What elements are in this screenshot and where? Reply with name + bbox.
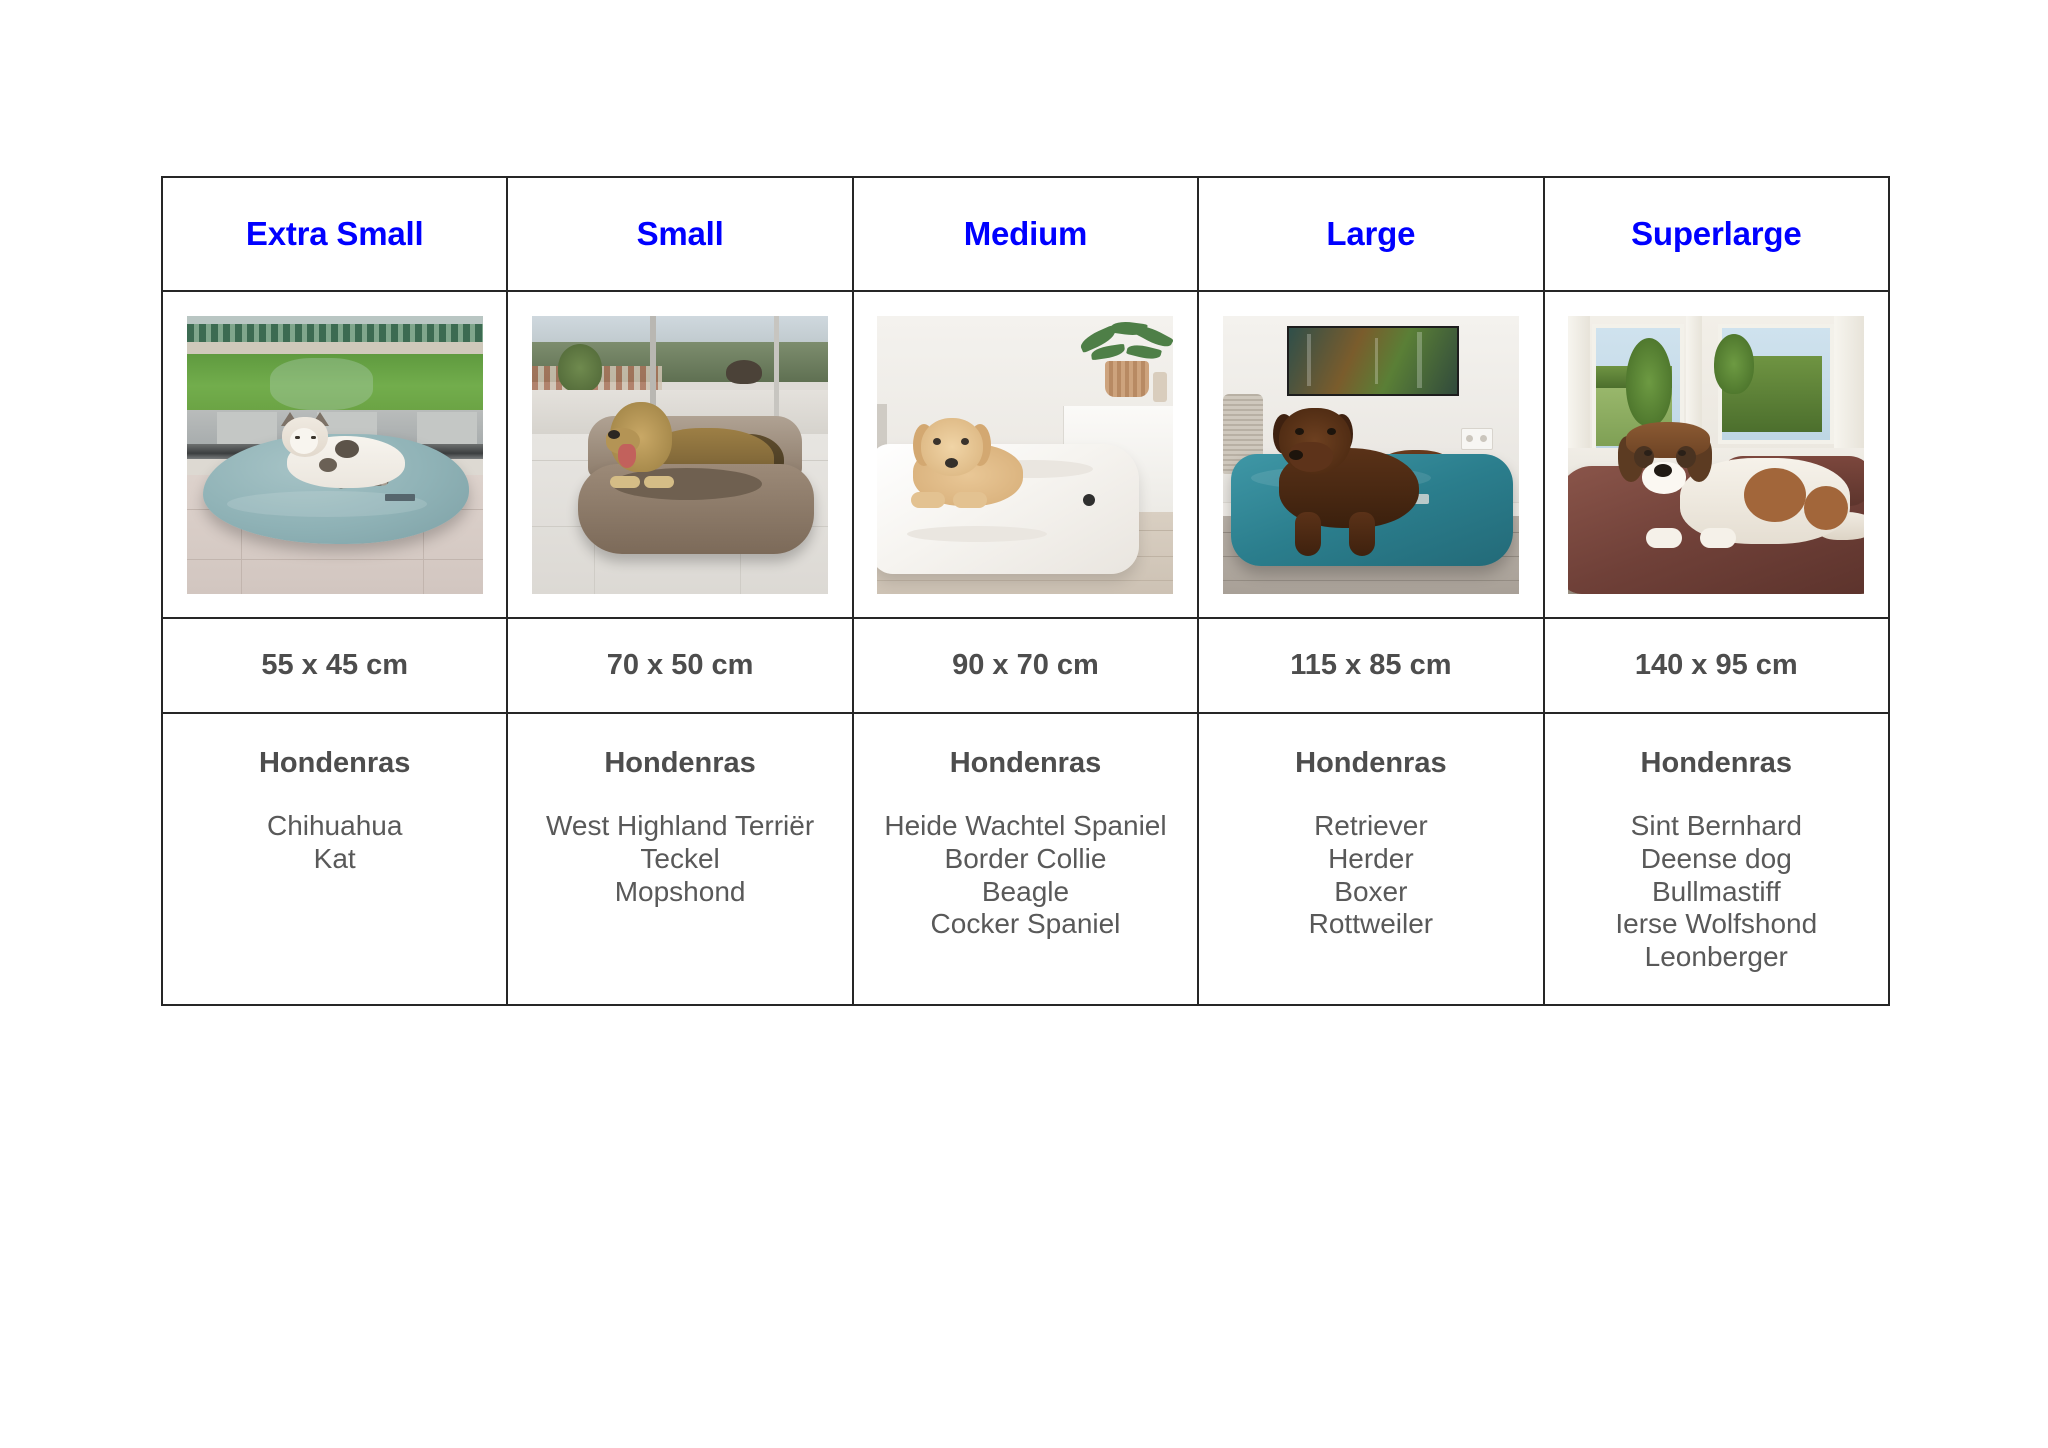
breed-item: Heide Wachtel Spaniel: [854, 810, 1197, 843]
header-cell-extra-small: Extra Small: [162, 177, 507, 291]
header-cell-small: Small: [507, 177, 852, 291]
breed-item: Rottweiler: [1199, 908, 1542, 941]
photo-cell-superlarge: [1544, 291, 1889, 618]
breed-item: West Highland Terriër: [508, 810, 851, 843]
breed-list-small: West Highland TerriërTeckelMopshond: [508, 810, 851, 908]
column-title-extra-small: Extra Small: [163, 215, 506, 253]
table-breed-row: Hondenras ChihuahuaKat Hondenras West Hi…: [162, 713, 1889, 1005]
breed-heading-large: Hondenras: [1199, 747, 1542, 780]
photo-wrapper-superlarge: [1545, 292, 1888, 617]
breed-item: Sint Bernhard: [1545, 810, 1888, 843]
photo-cell-extra-small: [162, 291, 507, 618]
breed-heading-small: Hondenras: [508, 747, 851, 780]
product-photo-extra-small: [187, 316, 483, 594]
dimension-text-small: 70 x 50 cm: [508, 649, 851, 682]
photo-wrapper-large: [1199, 292, 1542, 617]
breed-item: Cocker Spaniel: [854, 908, 1197, 941]
dimension-text-medium: 90 x 70 cm: [854, 649, 1197, 682]
dimension-cell-extra-small: 55 x 45 cm: [162, 618, 507, 713]
breed-list-medium: Heide Wachtel SpanielBorder CollieBeagle…: [854, 810, 1197, 941]
column-title-large: Large: [1199, 215, 1542, 253]
dimension-cell-small: 70 x 50 cm: [507, 618, 852, 713]
photo-wrapper-medium: [854, 292, 1197, 617]
breed-item: Beagle: [854, 876, 1197, 909]
breed-item: Kat: [163, 843, 506, 876]
photo-cell-large: [1198, 291, 1543, 618]
breed-heading-superlarge: Hondenras: [1545, 747, 1888, 780]
column-title-small: Small: [508, 215, 851, 253]
dimension-text-large: 115 x 85 cm: [1199, 649, 1542, 682]
header-cell-large: Large: [1198, 177, 1543, 291]
breed-cell-extra-small: Hondenras ChihuahuaKat: [162, 713, 507, 1005]
product-photo-small: [532, 316, 828, 594]
breed-item: Boxer: [1199, 876, 1542, 909]
dimension-text-extra-small: 55 x 45 cm: [163, 649, 506, 682]
breed-item: Retriever: [1199, 810, 1542, 843]
dimension-cell-medium: 90 x 70 cm: [853, 618, 1198, 713]
breed-item: Herder: [1199, 843, 1542, 876]
table-photo-row: [162, 291, 1889, 618]
breed-item: Leonberger: [1545, 941, 1888, 974]
product-photo-medium: [877, 316, 1173, 594]
document-page: Extra Small Small Medium Large Superlarg…: [0, 0, 2048, 1448]
breed-list-extra-small: ChihuahuaKat: [163, 810, 506, 876]
dog-bed-size-table: Extra Small Small Medium Large Superlarg…: [161, 176, 1890, 1006]
breed-item: Bullmastiff: [1545, 876, 1888, 909]
breed-item: Deense dog: [1545, 843, 1888, 876]
product-photo-large: [1223, 316, 1519, 594]
dimension-cell-large: 115 x 85 cm: [1198, 618, 1543, 713]
breed-item: Teckel: [508, 843, 851, 876]
dimension-text-superlarge: 140 x 95 cm: [1545, 649, 1888, 682]
breed-cell-medium: Hondenras Heide Wachtel SpanielBorder Co…: [853, 713, 1198, 1005]
breed-item: Border Collie: [854, 843, 1197, 876]
breed-list-large: RetrieverHerderBoxerRottweiler: [1199, 810, 1542, 941]
photo-cell-medium: [853, 291, 1198, 618]
breed-heading-medium: Hondenras: [854, 747, 1197, 780]
breed-item: Mopshond: [508, 876, 851, 909]
photo-wrapper-small: [508, 292, 851, 617]
breed-cell-large: Hondenras RetrieverHerderBoxerRottweiler: [1198, 713, 1543, 1005]
column-title-medium: Medium: [854, 215, 1197, 253]
breed-cell-small: Hondenras West Highland TerriërTeckelMop…: [507, 713, 852, 1005]
breed-list-superlarge: Sint BernhardDeense dogBullmastiffIerse …: [1545, 810, 1888, 974]
dimension-cell-superlarge: 140 x 95 cm: [1544, 618, 1889, 713]
product-photo-superlarge: [1568, 316, 1864, 594]
breed-heading-extra-small: Hondenras: [163, 747, 506, 780]
header-cell-medium: Medium: [853, 177, 1198, 291]
breed-item: Ierse Wolfshond: [1545, 908, 1888, 941]
breed-item: Chihuahua: [163, 810, 506, 843]
table-dimension-row: 55 x 45 cm 70 x 50 cm 90 x 70 cm 115 x 8…: [162, 618, 1889, 713]
breed-cell-superlarge: Hondenras Sint BernhardDeense dogBullmas…: [1544, 713, 1889, 1005]
photo-wrapper-extra-small: [163, 292, 506, 617]
column-title-superlarge: Superlarge: [1545, 215, 1888, 253]
table-header-row: Extra Small Small Medium Large Superlarg…: [162, 177, 1889, 291]
header-cell-superlarge: Superlarge: [1544, 177, 1889, 291]
photo-cell-small: [507, 291, 852, 618]
